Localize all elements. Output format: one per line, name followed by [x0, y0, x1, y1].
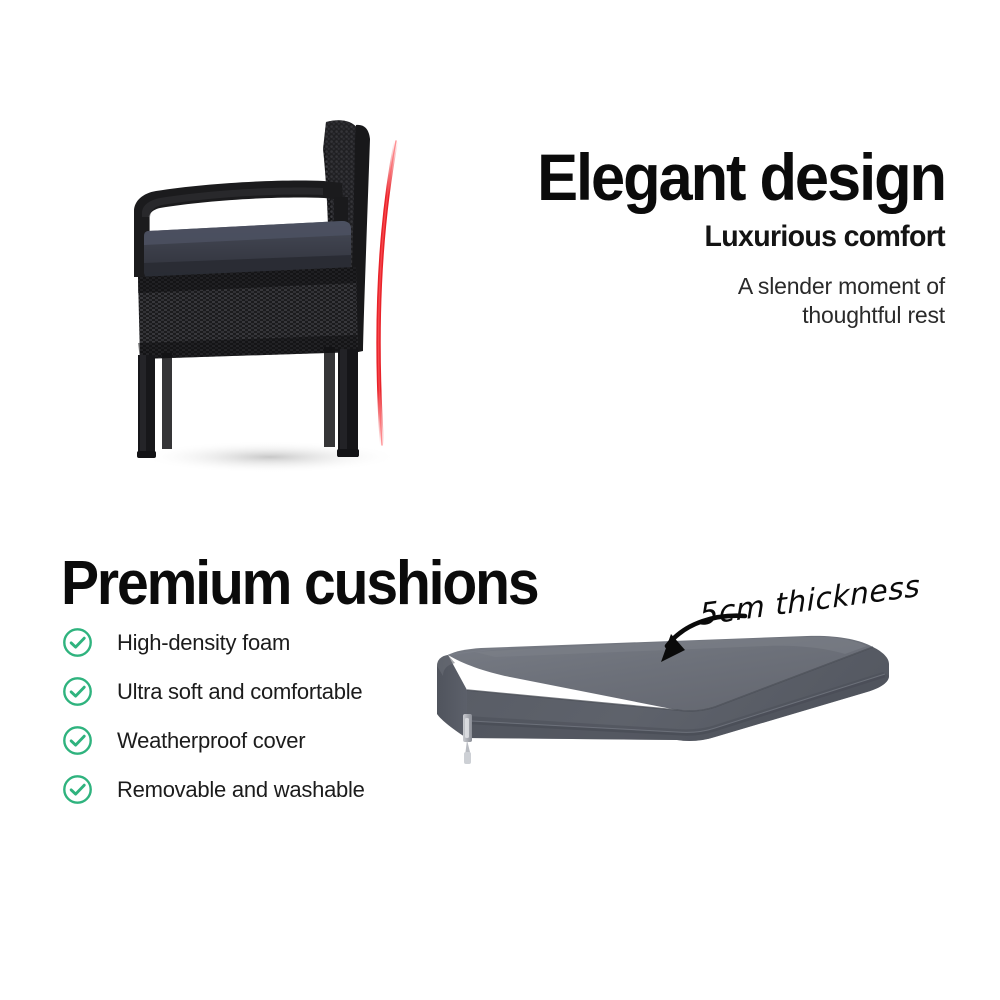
premium-cushions-section: Premium cushions High-density foam — [0, 500, 1000, 1000]
feature-label: High-density foam — [117, 630, 290, 656]
check-circle-icon — [62, 627, 93, 658]
feature-label: Weatherproof cover — [117, 728, 305, 754]
elegant-design-text-block: Elegant design Luxurious comfort A slend… — [385, 145, 945, 330]
elegant-design-section: Elegant design Luxurious comfort A slend… — [0, 0, 1000, 500]
thickness-label: 5cm thickness — [699, 569, 921, 633]
check-circle-icon — [62, 725, 93, 756]
elegant-design-heading: Elegant design — [424, 145, 945, 210]
elegant-tagline: A slender moment of thoughtful rest — [385, 272, 945, 330]
seat-cushion-image — [415, 630, 895, 820]
check-circle-icon — [62, 676, 93, 707]
product-feature-panel: Elegant design Luxurious comfort A slend… — [0, 0, 1000, 1000]
feature-label: Ultra soft and comfortable — [117, 679, 362, 705]
check-circle-icon — [62, 774, 93, 805]
tagline-line-1: A slender moment of — [385, 272, 945, 301]
luxurious-comfort-subheading: Luxurious comfort — [413, 220, 945, 254]
feature-label: Removable and washable — [117, 777, 365, 803]
premium-cushions-heading: Premium cushions — [61, 548, 537, 619]
tagline-line-2: thoughtful rest — [385, 301, 945, 330]
